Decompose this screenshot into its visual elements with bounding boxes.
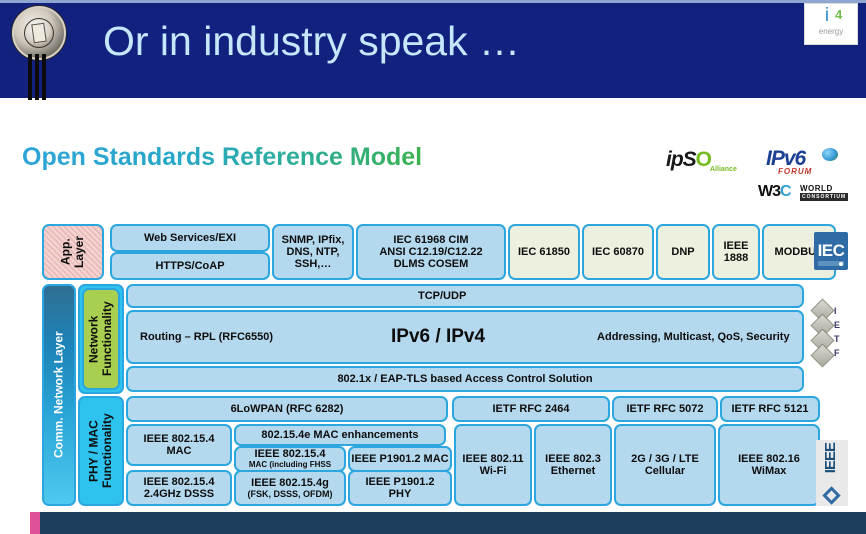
box-ieee-802-3-ethernet[interactable]: IEEE 802.3 Ethernet (534, 424, 612, 506)
section-heading: Open Standards Reference Model (22, 143, 422, 172)
seal-icon (12, 6, 66, 60)
iec-logo: IEC (814, 232, 848, 270)
box-ieee-802-15-4-mac[interactable]: IEEE 802.15.4 MAC (126, 424, 232, 466)
label-network-functionality: Network Functionality (82, 288, 120, 390)
i4-logo-subtitle: energy (805, 27, 857, 36)
ipv6-forum-subtitle: FORUM (778, 167, 812, 176)
box-network-ip-row[interactable]: Routing – RPL (RFC6550) IPv6 / IPv4 Addr… (126, 310, 804, 364)
iec-logo-dot (839, 262, 843, 266)
slide-title: Or in industry speak … (103, 18, 520, 65)
box-tcp-udp[interactable]: TCP/UDP (126, 284, 804, 308)
box-ieee-p1901-2-mac[interactable]: IEEE P1901.2 MAC (348, 446, 452, 472)
box-access-control-solution[interactable]: 802.1x / EAP-TLS based Access Control So… (126, 366, 804, 392)
ipso-alliance-subtitle: Alliance (710, 166, 737, 173)
box-web-services-exi[interactable]: Web Services/EXI (110, 224, 270, 252)
seal-inner-ring (24, 18, 54, 48)
box-snmp-ipfix-dns-ntp-ssh[interactable]: SNMP, IPfix, DNS, NTP, SSH,… (272, 224, 354, 280)
ieee-logo-text: IEEE (822, 443, 839, 473)
fhss-line-1: IEEE 802.15.4 (255, 448, 326, 460)
ieee802154g-line-1: IEEE 802.15.4g (251, 477, 329, 489)
box-ieee-802-16-wimax[interactable]: IEEE 802.16 WiMax (718, 424, 820, 506)
header-banner: Or in industry speak … i 4 energy (0, 0, 866, 98)
i4-logo-letter: i (801, 6, 853, 25)
box-iec-61850[interactable]: IEC 61850 (508, 224, 580, 280)
iec-logo-text: IEC (818, 241, 845, 261)
footer-accent-block (30, 512, 40, 534)
box-6lowpan[interactable]: 6LoWPAN (RFC 6282) (126, 396, 448, 422)
box-iec-60870[interactable]: IEC 60870 (582, 224, 654, 280)
box-ieee-1888[interactable]: IEEE 1888 (712, 224, 760, 280)
standards-body-logos: ipSO Alliance IPv6 FORUM W3C WORLD WIDE … (654, 148, 854, 210)
i4-energy-logo: i 4 energy (804, 3, 858, 45)
label-app-layer: App. Layer (42, 224, 104, 280)
label-routing-rpl: Routing – RPL (RFC6550) (140, 331, 273, 343)
label-addressing-multicast-qos-security: Addressing, Multicast, QoS, Security (597, 331, 790, 343)
ieee-logo: IEEE (816, 440, 848, 506)
ipso-alliance-logo: ipSO (666, 148, 711, 172)
fhss-line-2: MAC (including FHSS (249, 461, 331, 470)
label-phy-mac-functionality: PHY / MAC Functionality (82, 400, 120, 502)
box-ieee-802-11-wifi[interactable]: IEEE 802.11 Wi-Fi (454, 424, 532, 506)
box-ietf-rfc-5072[interactable]: IETF RFC 5072 (612, 396, 718, 422)
university-seal-logo (6, 2, 68, 98)
ieee-logo-diamond (822, 486, 840, 504)
ieee802154g-line-2: (FSK, DSSS, OFDM) (248, 489, 333, 499)
label-comm-network-layer: Comm. Network Layer (42, 284, 76, 506)
label-ipv6-ipv4: IPv6 / IPv4 (391, 326, 485, 347)
ietf-chain-icon (812, 302, 832, 364)
w3c-logo: W3C (758, 183, 791, 201)
seal-bars-decoration (28, 54, 54, 100)
box-https-coap[interactable]: HTTPS/CoAP (110, 252, 270, 280)
box-ieee-802-15-4-24ghz-dsss[interactable]: IEEE 802.15.4 2.4GHz DSSS (126, 470, 232, 506)
globe-icon (822, 148, 838, 161)
footer-bar (30, 512, 866, 534)
ietf-logo: IETF (812, 302, 852, 364)
box-cellular[interactable]: 2G / 3G / LTE Cellular (614, 424, 716, 506)
open-standards-reference-model: Comm. Network Layer App. Layer Network F… (14, 222, 854, 512)
box-ietf-rfc-5121[interactable]: IETF RFC 5121 (720, 396, 820, 422)
box-iec-61968-cim[interactable]: IEC 61968 CIM ANSI C12.19/C12.22 DLMS CO… (356, 224, 506, 280)
box-ieee-p1901-2-phy[interactable]: IEEE P1901.2 PHY (348, 470, 452, 506)
box-ietf-rfc-2464[interactable]: IETF RFC 2464 (452, 396, 610, 422)
seal-book-icon (31, 23, 47, 44)
box-ieee-802-15-4-mac-fhss[interactable]: IEEE 802.15.4 MAC (including FHSS (234, 446, 346, 472)
i4-logo-superscript: 4 (835, 7, 842, 22)
w3c-logo-subtext: CONSORTIUM (800, 193, 848, 201)
box-ieee-802-15-4g[interactable]: IEEE 802.15.4g (FSK, DSSS, OFDM) (234, 470, 346, 506)
box-802-15-4e-mac-enhancements[interactable]: 802.15.4e MAC enhancements (234, 424, 446, 446)
ietf-logo-text: IETF (834, 304, 840, 360)
box-dnp[interactable]: DNP (656, 224, 710, 280)
header-top-rule (0, 0, 866, 3)
